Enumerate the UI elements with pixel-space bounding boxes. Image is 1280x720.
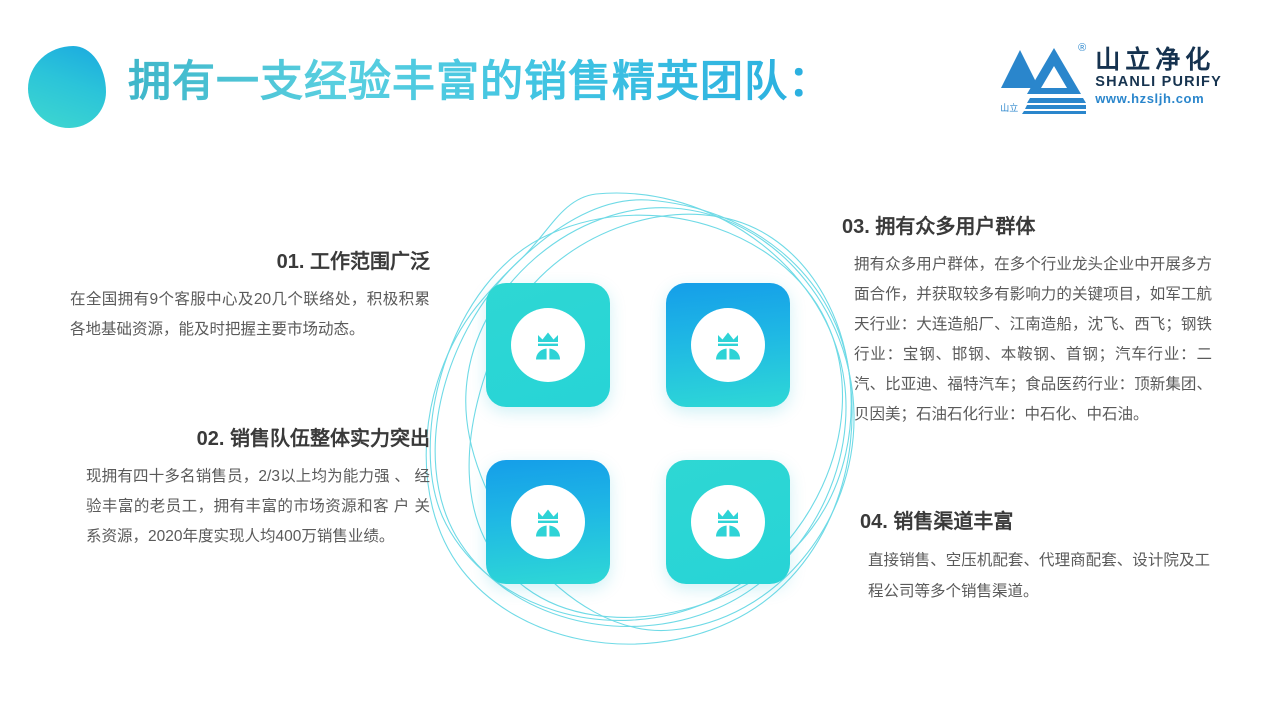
person-tile-top-right[interactable] [666, 283, 790, 407]
section-03-title: 03. 拥有众多用户群体 [842, 210, 1212, 239]
section-01-title: 01. 工作范围广泛 [70, 245, 430, 274]
page-title: 拥有一支经验丰富的销售精英团队： [128, 52, 832, 112]
tile-grid [486, 283, 790, 584]
logo-mark-caption: 山立 [1000, 103, 1018, 113]
logo-name-en: SHANLI PURIFY [1095, 74, 1222, 91]
crowned-person-icon [691, 308, 765, 382]
section-02-title: 02. 销售队伍整体实力突出 [70, 422, 430, 451]
person-tile-bottom-right[interactable] [666, 460, 790, 584]
registered-trademark-icon: ® [1078, 42, 1086, 54]
company-logo: ® 山立 山立净化 SHANLI PURIFY www.hzsljh.com [1000, 42, 1222, 114]
person-tile-bottom-left[interactable] [486, 460, 610, 584]
crowned-person-icon [511, 485, 585, 559]
crowned-person-icon [691, 485, 765, 559]
section-04-title: 04. 销售渠道丰富 [860, 505, 1210, 534]
section-02: 02. 销售队伍整体实力突出 现拥有四十多名销售员，2/3以上均为能力强 、 经… [70, 422, 430, 552]
crowned-person-icon [511, 308, 585, 382]
section-01-body: 在全国拥有9个客服中心及20几个联络处，积极积累各地基础资源，能及时把握主要市场… [70, 285, 430, 345]
section-04-body: 直接销售、空压机配套、代理商配套、设计院及工程公司等多个销售渠道。 [860, 545, 1210, 607]
section-03: 03. 拥有众多用户群体 拥有众多用户群体，在多个行业龙头企业中开展多方面合作，… [842, 210, 1212, 430]
center-graphic [400, 178, 890, 668]
person-tile-top-left[interactable] [486, 283, 610, 407]
section-03-body: 拥有众多用户群体，在多个行业龙头企业中开展多方面合作，并获取较多有影响力的关键项… [842, 250, 1212, 430]
section-04: 04. 销售渠道丰富 直接销售、空压机配套、代理商配套、设计院及工程公司等多个销… [860, 505, 1210, 607]
logo-website: www.hzsljh.com [1095, 91, 1222, 107]
section-02-body: 现拥有四十多名销售员，2/3以上均为能力强 、 经验丰富的老员工，拥有丰富的市场… [70, 462, 430, 552]
header-blob-decoration [28, 46, 106, 128]
section-01: 01. 工作范围广泛 在全国拥有9个客服中心及20几个联络处，积极积累各地基础资… [70, 245, 430, 345]
mountain-logo-icon: ® 山立 [1000, 42, 1086, 114]
logo-name-cn: 山立净化 [1095, 46, 1222, 74]
